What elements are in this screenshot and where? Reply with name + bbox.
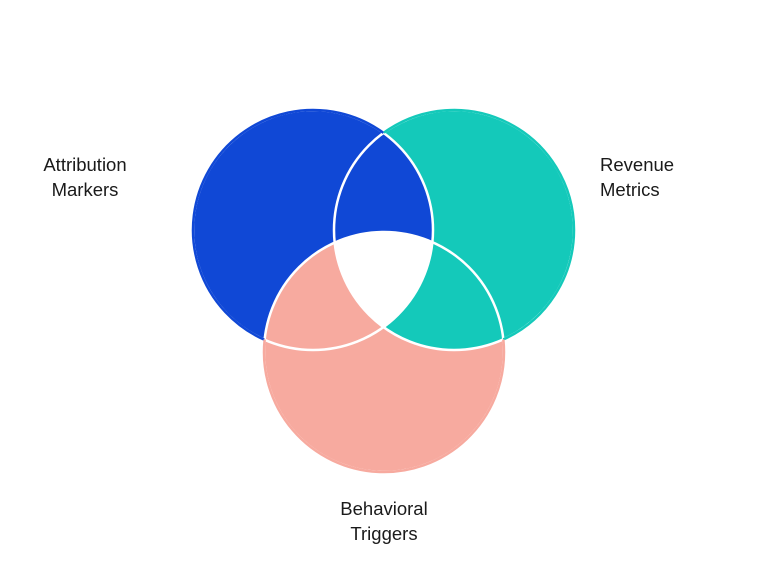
venn-label-behavioral-triggers: Behavioral Triggers	[284, 496, 484, 546]
venn-diagram	[0, 0, 768, 582]
venn-outer-arc-behavioral-triggers	[503, 339, 504, 352]
venn-figure: Pillars of Marketing Effectiveness	[0, 0, 768, 582]
venn-label-revenue-metrics: Revenue Metrics	[600, 152, 768, 202]
venn-label-attribution-markers: Attribution Markers	[0, 152, 170, 202]
